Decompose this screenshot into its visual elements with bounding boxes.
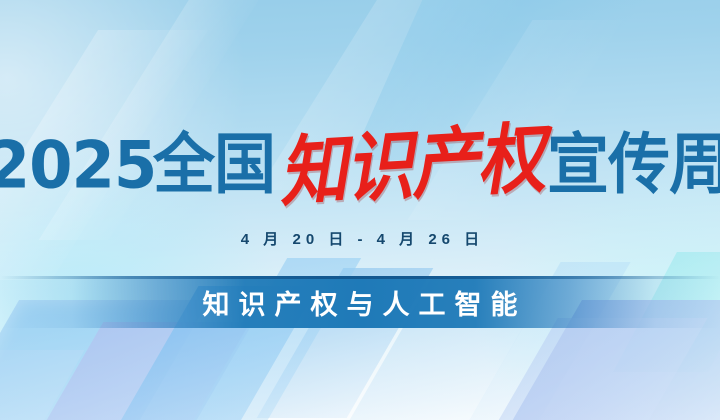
headline-suffix: 宣传周 — [547, 133, 720, 199]
ip-week-banner: 2025 全国 知识产权 宣传周 4 月 20 日 - 4 月 26 日 知识产… — [0, 0, 720, 420]
headline: 2025 全国 知识产权 宣传周 — [0, 120, 720, 212]
date-range: 4 月 20 日 - 4 月 26 日 — [0, 228, 720, 249]
headline-highlight: 知识产权 — [273, 120, 549, 211]
headline-nation: 全国 — [153, 133, 275, 199]
subtitle-text: 知识产权与人工智能 — [0, 276, 720, 328]
subtitle-band: 知识产权与人工智能 — [0, 276, 720, 328]
headline-year: 2025 — [0, 134, 156, 199]
